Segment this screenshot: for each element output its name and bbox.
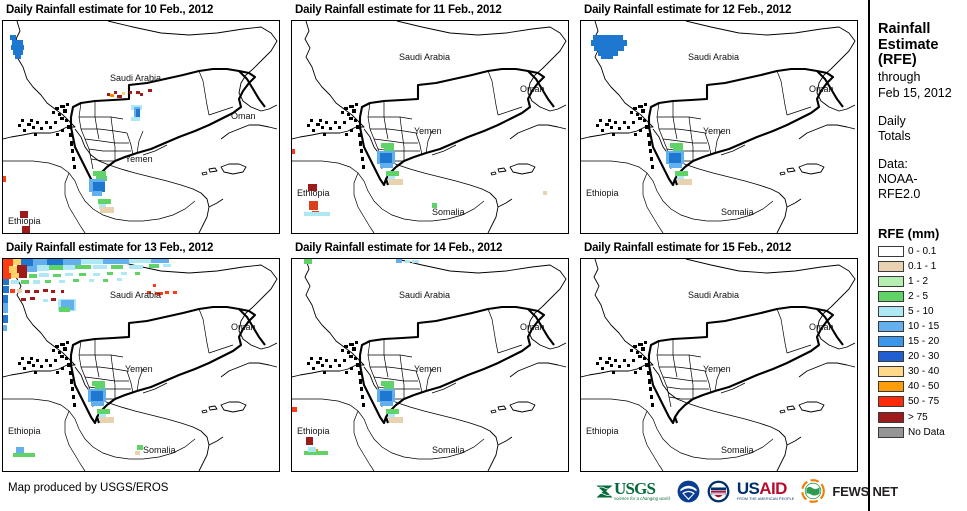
- country-label-oman: Oman: [231, 111, 256, 121]
- panel-11-feb-map: Saudi ArabiaOmanYemenEthiopiaSomalia: [291, 20, 569, 234]
- rainfall-cell: [405, 260, 410, 263]
- rainfall-cell: [17, 265, 27, 273]
- rainfall-cell: [65, 273, 73, 276]
- country-label-saudi-arabia: Saudi Arabia: [688, 52, 739, 62]
- country-label-yemen: Yemen: [703, 126, 731, 136]
- usgs-logo: USGS science for a changing world: [596, 481, 670, 501]
- rainfall-cell: [543, 191, 547, 195]
- map-credit: Map produced by USGS/EROS: [8, 482, 168, 494]
- legend-swatch-label: > 75: [908, 412, 928, 423]
- rainfall-cell: [19, 273, 27, 278]
- rainfall-cell: [51, 290, 55, 293]
- rainfall-cell: [29, 274, 37, 278]
- rainfall-cell: [129, 259, 151, 263]
- rainfall-cell: [61, 290, 64, 293]
- country-label-yemen: Yemen: [125, 154, 153, 164]
- rainfall-cell: [100, 417, 114, 423]
- rainfall-cell: [380, 153, 392, 163]
- rainfall-cell: [135, 272, 140, 275]
- rainfall-cell: [21, 298, 26, 301]
- rainfall-cell: [153, 284, 156, 287]
- rainfall-cell: [53, 274, 61, 277]
- legend-scale-row: 10 - 15: [878, 319, 967, 334]
- panel-12-feb-map: Saudi ArabiaOmanYemenEthiopiaSomalia: [580, 20, 858, 234]
- panel-12-feb: Daily Rainfall estimate for 12 Feb., 201…: [580, 0, 862, 238]
- legend-data-line3: RFE2.0: [878, 187, 967, 202]
- panel-15-feb-title: Daily Rainfall estimate for 15 Feb., 201…: [580, 238, 862, 258]
- map-panel-grid: Daily Rainfall estimate for 10 Feb., 201…: [0, 0, 868, 470]
- country-label-oman: Oman: [809, 84, 834, 94]
- rainfall-cell: [34, 290, 39, 293]
- legend-swatch: [878, 291, 904, 302]
- legend-totals: Daily Totals: [878, 114, 967, 144]
- rainfall-cell: [135, 451, 140, 455]
- rainfall-cell: [678, 179, 692, 185]
- rainfall-cell: [165, 291, 169, 294]
- country-label-ethiopia: Ethiopia: [8, 426, 41, 436]
- rainfall-cell: [389, 179, 403, 185]
- legend-scale-row: 15 - 20: [878, 334, 967, 349]
- rainfall-cell: [669, 153, 681, 163]
- rainfall-cell: [25, 290, 30, 293]
- legend-swatch: [878, 396, 904, 407]
- rainfall-cell: [121, 272, 127, 275]
- legend-swatch-label: 50 - 75: [908, 396, 939, 407]
- rainfall-cell: [412, 260, 419, 263]
- legend-swatch-label: 0 - 0.1: [908, 246, 936, 257]
- rainfall-cell: [117, 278, 122, 281]
- rainfall-cell: [81, 259, 103, 264]
- rainfall-cell: [3, 303, 8, 313]
- rainfall-cell: [93, 273, 100, 276]
- country-label-oman: Oman: [809, 322, 834, 332]
- usaid-seal-icon: [707, 480, 730, 503]
- legend-swatch-label: 20 - 30: [908, 351, 939, 362]
- legend-swatch: [878, 427, 904, 438]
- panel-11-feb: Daily Rainfall estimate for 11 Feb., 201…: [291, 0, 573, 238]
- rainfall-cell: [601, 56, 613, 59]
- rainfall-cell: [292, 407, 297, 412]
- rainfall-cell: [27, 266, 37, 272]
- country-label-somalia: Somalia: [432, 445, 465, 455]
- country-label-saudi-arabia: Saudi Arabia: [688, 290, 739, 300]
- legend-scale-row: 50 - 75: [878, 394, 967, 409]
- rainfall-cell: [308, 447, 316, 452]
- legend-swatch: [878, 351, 904, 362]
- legend-data-source: Data: NOAA- RFE2.0: [878, 157, 967, 202]
- rainfall-cell: [21, 280, 29, 284]
- rainfall-cell: [3, 325, 7, 331]
- legend-title-line2: Estimate: [878, 38, 967, 54]
- rainfall-cell: [111, 265, 123, 269]
- rainfall-cell: [51, 298, 56, 301]
- legend-title: Rainfall Estimate (RFE): [878, 22, 967, 69]
- footer-logos: USGS science for a changing world USAID …: [596, 476, 898, 506]
- legend-scale-list: 0 - 0.10.1 - 11 - 22 - 55 - 1010 - 1515 …: [878, 244, 967, 440]
- usaid-logo: USAID FROM THE AMERICAN PEOPLE: [737, 481, 794, 501]
- rainfall-cell: [309, 201, 318, 210]
- legend-swatch: [878, 366, 904, 377]
- rainfall-cell: [129, 265, 143, 269]
- panel-10-feb: Daily Rainfall estimate for 10 Feb., 201…: [2, 0, 284, 238]
- legend-swatch: [878, 246, 904, 257]
- panel-15-feb-map: Saudi ArabiaOmanYemenEthiopiaSomalia: [580, 258, 858, 472]
- usaid-tagline: FROM THE AMERICAN PEOPLE: [737, 497, 794, 501]
- legend-title-line1: Rainfall: [878, 22, 967, 38]
- rainfall-cell: [669, 163, 682, 168]
- legend-scale-row: 40 - 50: [878, 379, 967, 394]
- country-label-somalia: Somalia: [432, 207, 465, 217]
- panel-10-feb-rainfall-layer: [3, 21, 279, 233]
- country-label-saudi-arabia: Saudi Arabia: [110, 290, 161, 300]
- legend-swatch: [878, 381, 904, 392]
- legend-data-line2: NOAA-: [878, 172, 967, 187]
- legend-title-line3: (RFE): [878, 53, 967, 69]
- rainfall-cell: [75, 265, 91, 269]
- legend-scale-row: No Data: [878, 425, 967, 440]
- panel-13-feb: Daily Rainfall estimate for 13 Feb., 201…: [2, 238, 284, 476]
- rainfall-cell: [103, 279, 108, 282]
- legend-swatch-label: 40 - 50: [908, 381, 939, 392]
- country-label-ethiopia: Ethiopia: [586, 426, 619, 436]
- legend-swatch: [878, 306, 904, 317]
- rainfall-cell: [306, 437, 313, 445]
- rainfall-cell: [39, 273, 49, 277]
- rainfall-cell: [136, 109, 140, 117]
- rainfall-cell: [15, 55, 21, 59]
- rainfall-cell: [13, 453, 35, 457]
- rainfall-cell: [3, 286, 9, 293]
- rainfall-cell: [63, 265, 75, 270]
- rainfall-cell: [396, 259, 402, 263]
- panel-10-feb-title: Daily Rainfall estimate for 10 Feb., 201…: [2, 0, 284, 20]
- rainfall-cell: [149, 264, 159, 268]
- noaa-logo: [677, 480, 700, 503]
- panel-15-feb: Daily Rainfall estimate for 15 Feb., 201…: [580, 238, 862, 476]
- usgs-wave-icon: [596, 484, 613, 499]
- country-label-somalia: Somalia: [143, 445, 176, 455]
- legend-totals-line2: Totals: [878, 129, 967, 144]
- rainfall-cell: [93, 265, 107, 269]
- usaid-wordmark: USAID: [737, 481, 794, 497]
- rainfall-cell: [304, 212, 330, 216]
- rainfall-cell: [17, 289, 22, 293]
- country-label-saudi-arabia: Saudi Arabia: [399, 52, 450, 62]
- rainfall-cell: [37, 265, 49, 271]
- rainfall-cell: [92, 191, 102, 196]
- rainfall-cell: [140, 93, 143, 96]
- legend-swatch: [878, 261, 904, 272]
- legend-scale-row: 5 - 10: [878, 304, 967, 319]
- legend-data-line1: Data:: [878, 157, 967, 172]
- panel-11-feb-title: Daily Rainfall estimate for 11 Feb., 201…: [291, 0, 573, 20]
- legend-swatch: [878, 276, 904, 287]
- legend-swatch-label: 10 - 15: [908, 321, 939, 332]
- legend-swatch: [878, 321, 904, 332]
- rainfall-cell: [89, 279, 94, 282]
- rainfall-cell: [30, 297, 35, 300]
- country-label-somalia: Somalia: [721, 207, 754, 217]
- rainfall-cell: [43, 289, 48, 292]
- rainfall-cell: [3, 315, 8, 323]
- legend-swatch: [878, 336, 904, 347]
- legend-scale-row: 1 - 2: [878, 274, 967, 289]
- rainfall-cell: [151, 259, 169, 263]
- rainfall-cell: [49, 265, 63, 270]
- country-label-yemen: Yemen: [414, 364, 442, 374]
- rainfall-cell: [103, 259, 129, 264]
- rainfall-cell: [91, 391, 103, 401]
- legend-swatch-label: 1 - 2: [908, 276, 928, 287]
- usgs-wordmark: USGS: [614, 481, 670, 496]
- rainfall-cell: [59, 280, 65, 283]
- panel-14-feb-map: Saudi ArabiaOmanYemenEthiopiaSomalia: [291, 258, 569, 472]
- rainfall-cell: [100, 207, 114, 213]
- country-label-oman: Oman: [520, 84, 545, 94]
- rainfall-cell: [380, 401, 393, 406]
- rainfall-cell: [380, 163, 393, 168]
- rainfall-cell: [380, 391, 392, 401]
- rainfall-cell: [43, 299, 48, 302]
- legend-swatch-label: No Data: [908, 427, 945, 438]
- fews-net-wordmark: FEWS NET: [832, 484, 898, 499]
- country-label-yemen: Yemen: [125, 364, 153, 374]
- legend-scale-row: 2 - 5: [878, 289, 967, 304]
- rainfall-cell: [73, 279, 79, 282]
- rainfall-cell: [3, 295, 8, 303]
- rainfall-cell: [22, 226, 30, 234]
- country-label-ethiopia: Ethiopia: [297, 426, 330, 436]
- legend-scale-row: 0.1 - 1: [878, 259, 967, 274]
- legend-scale-row: 30 - 40: [878, 364, 967, 379]
- legend-swatch-label: 0.1 - 1: [908, 261, 936, 272]
- rainfall-cell: [45, 280, 51, 283]
- panel-14-feb: Daily Rainfall estimate for 14 Feb., 201…: [291, 238, 573, 476]
- legend-swatch-label: 2 - 5: [908, 291, 928, 302]
- legend-swatch-label: 5 - 10: [908, 306, 934, 317]
- legend-swatch: [878, 412, 904, 423]
- country-label-ethiopia: Ethiopia: [586, 188, 619, 198]
- country-label-oman: Oman: [520, 322, 545, 332]
- legend-swatch-label: 15 - 20: [908, 336, 939, 347]
- rainfall-cell: [122, 92, 125, 95]
- rainfall-cell: [292, 149, 295, 154]
- rainfall-cell: [110, 94, 114, 97]
- country-label-saudi-arabia: Saudi Arabia: [110, 73, 161, 83]
- country-label-yemen: Yemen: [414, 126, 442, 136]
- country-label-somalia: Somalia: [721, 445, 754, 455]
- rainfall-cell: [9, 266, 17, 273]
- country-label-ethiopia: Ethiopia: [8, 216, 41, 226]
- country-label-ethiopia: Ethiopia: [297, 188, 330, 198]
- legend-through-date: Feb 15, 2012: [878, 86, 967, 101]
- legend-totals-line1: Daily: [878, 114, 967, 129]
- rainfall-cell: [3, 279, 9, 285]
- rainfall-cell: [304, 259, 312, 264]
- panel-13-feb-map: Saudi ArabiaOmanYemenEthiopiaSomalia: [2, 258, 280, 472]
- legend-swatch-label: 30 - 40: [908, 366, 939, 377]
- rainfall-cell: [79, 273, 86, 276]
- rainfall-cell: [163, 264, 171, 267]
- legend-scale-heading: RFE (mm): [878, 226, 967, 241]
- rainfall-cell: [117, 95, 122, 98]
- rainfall-cell: [10, 289, 15, 293]
- country-label-yemen: Yemen: [703, 364, 731, 374]
- rainfall-cell: [11, 273, 19, 278]
- rainfall-cell: [59, 307, 70, 312]
- rainfall-cell: [91, 401, 104, 406]
- legend-scale-row: 0 - 0.1: [878, 244, 967, 259]
- legend-scale-row: > 75: [878, 410, 967, 425]
- country-label-saudi-arabia: Saudi Arabia: [399, 290, 450, 300]
- rainfall-cell: [173, 291, 177, 294]
- panel-13-feb-title: Daily Rainfall estimate for 13 Feb., 201…: [2, 238, 284, 258]
- rainfall-cell: [148, 89, 152, 92]
- panel-12-feb-title: Daily Rainfall estimate for 12 Feb., 201…: [580, 0, 862, 20]
- rainfall-cell: [107, 272, 113, 275]
- legend-through-label: through: [878, 70, 967, 85]
- usgs-tagline: science for a changing world: [614, 496, 670, 501]
- panel-14-feb-title: Daily Rainfall estimate for 14 Feb., 201…: [291, 238, 573, 258]
- rainfall-cell: [131, 117, 140, 121]
- rainfall-cell: [3, 176, 6, 182]
- rainfall-cell: [114, 91, 117, 94]
- legend-panel: Rainfall Estimate (RFE) through Feb 15, …: [868, 0, 967, 511]
- rainfall-cell: [129, 91, 132, 94]
- country-label-oman: Oman: [231, 322, 256, 332]
- rainfall-cell: [33, 280, 40, 284]
- legend-scale-row: 20 - 30: [878, 349, 967, 364]
- rainfall-cell: [389, 417, 403, 423]
- fews-net-globe-icon: [801, 479, 825, 503]
- rainfall-cell: [11, 280, 19, 284]
- panel-10-feb-map: Saudi ArabiaOmanYemenEthiopiaSomalia: [2, 20, 280, 234]
